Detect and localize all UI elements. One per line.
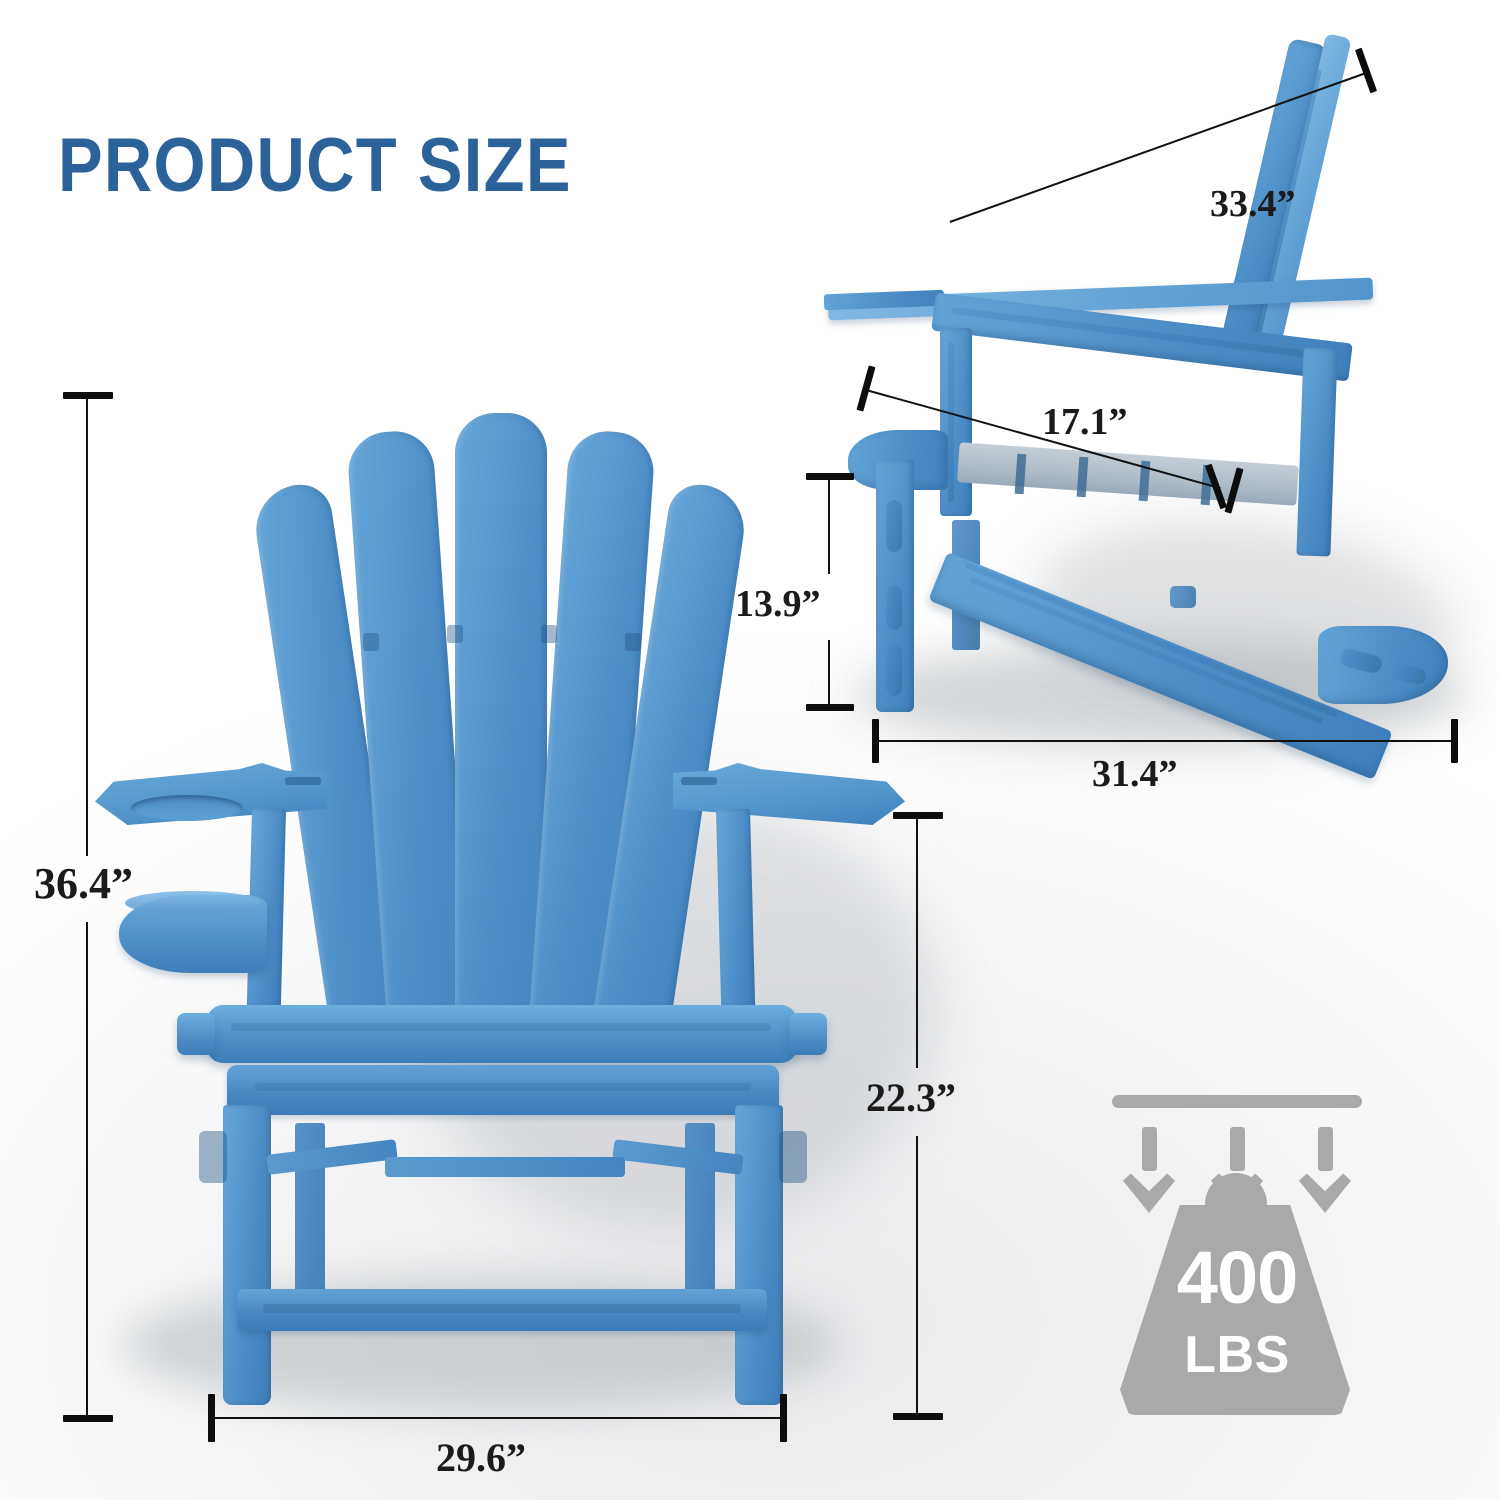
dim-13-bottom-cap [806, 704, 854, 711]
dim-36-top-cap [63, 392, 113, 399]
backrest-cross-rail-notch-2 [447, 625, 463, 643]
arrow-shaft-1 [1142, 1127, 1157, 1171]
folded-base-runner-groove-b [969, 576, 1324, 724]
left-cup-holder-rim [125, 891, 261, 915]
seat-left-tab [177, 1013, 215, 1055]
dim-36-line-upper [86, 396, 88, 856]
dim-29-right-cap [780, 1394, 787, 1442]
arrow-shaft-2 [1230, 1127, 1245, 1171]
dim-22-bottom-cap [893, 1413, 943, 1420]
front-left-leg [223, 1105, 271, 1405]
dim-17-label: 17.1” [1042, 400, 1128, 444]
right-armrest [673, 763, 905, 825]
dim-13-line-lower [828, 640, 830, 707]
dim-13-line-upper [828, 477, 830, 574]
dim-22-line-lower [916, 1136, 918, 1416]
backrest-slat-3 [455, 413, 547, 1033]
front-right-leg [735, 1105, 783, 1405]
dim-33-label: 33.4” [1210, 182, 1296, 226]
infographic-canvas: PRODUCT SIZE [0, 0, 1500, 1500]
down-arrow-icon-3 [1292, 1127, 1358, 1199]
dim-22-line-upper [916, 816, 918, 1068]
seat-brace-left [266, 1139, 397, 1175]
dim-29-line [211, 1417, 783, 1419]
folded-frame-right-post [1296, 347, 1337, 556]
bottom-stretcher-groove [263, 1304, 741, 1313]
dim-22-label: 22.3” [866, 1074, 956, 1121]
right-arm-back-notch [681, 777, 717, 785]
seat-front-beam-groove [231, 1023, 771, 1031]
seat-right-tab [789, 1013, 827, 1055]
left-arm-back-notch [285, 777, 321, 785]
folded-base-runner-groove-a [965, 562, 1338, 717]
folded-frame-left-post-groove [948, 342, 954, 502]
down-arrow-icon-1 [1116, 1127, 1182, 1199]
dim-31-line [875, 740, 1454, 742]
front-view-chair [95, 405, 905, 1425]
folded-seat-slat-group [957, 442, 1299, 506]
front-right-leg-hinge [779, 1131, 807, 1183]
folded-seat-slat-gap-1 [1015, 454, 1027, 495]
dim-36-bottom-cap [63, 1415, 113, 1422]
dim-22-top-cap [893, 812, 943, 819]
dim-36-line-lower [86, 922, 88, 1418]
folded-rear-foot [1318, 626, 1448, 704]
folded-hinge-knob [1170, 586, 1196, 608]
front-left-leg-hinge [199, 1131, 227, 1183]
dim-29-label: 29.6” [436, 1434, 526, 1481]
weight-capacity-icon: 400 LBS [1112, 1095, 1362, 1425]
capacity-number: 400 [1112, 1241, 1362, 1315]
weight-top-bar-icon [1112, 1095, 1362, 1108]
seat-lower-apron-groove [255, 1083, 751, 1091]
dim-31-label: 31.4” [1092, 752, 1178, 796]
dim-13-label: 13.9” [735, 582, 821, 626]
backrest-cross-rail-notch-3 [541, 625, 557, 643]
dim-31-right-cap [1451, 719, 1458, 763]
seat-front-beam [207, 1005, 797, 1063]
backrest-cross-rail-notch-1 [363, 633, 379, 651]
arrow-shaft-3 [1318, 1127, 1333, 1171]
folded-side-view-chair [820, 30, 1480, 730]
backrest-cross-rail-notch-4 [625, 633, 641, 651]
dim-36-label: 36.4” [34, 858, 133, 909]
page-title: PRODUCT SIZE [58, 122, 572, 209]
seat-under-rail [385, 1157, 625, 1177]
capacity-unit: LBS [1112, 1329, 1362, 1381]
left-armrest-cup-recess [131, 795, 243, 821]
seat-brace-right [612, 1139, 743, 1175]
dim-13-top-cap [806, 473, 854, 480]
